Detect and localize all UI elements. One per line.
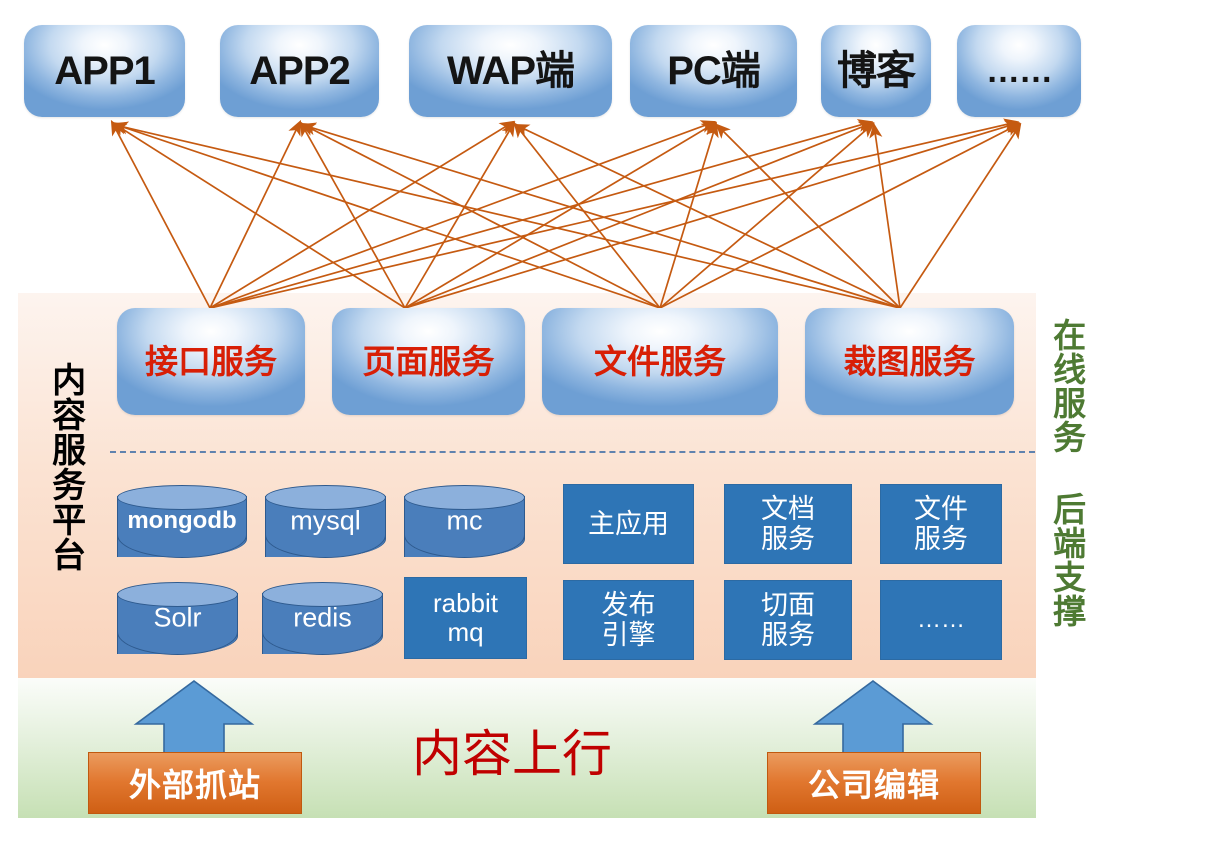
backend-box-file-service[interactable]: 文件 服务 (880, 484, 1002, 564)
datastore-cylinder-mongodb[interactable]: mongodb (117, 485, 247, 557)
backend-box-publish-engine[interactable]: 发布 引擎 (563, 580, 694, 660)
client-label: APP2 (249, 51, 350, 91)
upstream-source-company-editor[interactable]: 公司编辑 (767, 752, 981, 814)
layer-divider (110, 451, 1035, 453)
upstream-source-label: 公司编辑 (808, 760, 940, 806)
service-label: 文件服务 (594, 345, 726, 378)
backend-label-line1: 文档 (761, 494, 815, 524)
client-label: …… (986, 54, 1052, 88)
backend-label-line1: 文件 (914, 494, 968, 524)
datastore-box-rabbitmq[interactable]: rabbit mq (404, 577, 527, 659)
side-label-online-service: 在线服务 (1050, 318, 1084, 468)
client-box-pc[interactable]: PC端 (630, 25, 797, 117)
client-box-wap[interactable]: WAP端 (409, 25, 612, 117)
backend-label-line1: 发布 (602, 590, 656, 620)
datastore-cylinder-solr[interactable]: Solr (117, 582, 238, 654)
datastore-cylinder-mc[interactable]: mc (404, 485, 525, 557)
backend-box-doc-service[interactable]: 文档 服务 (724, 484, 852, 564)
service-box-file[interactable]: 文件服务 (542, 308, 778, 415)
upstream-source-label: 外部抓站 (129, 760, 261, 806)
client-box-more[interactable]: …… (957, 25, 1081, 117)
datastore-cylinder-mysql[interactable]: mysql (265, 485, 386, 557)
client-label: WAP端 (447, 51, 574, 91)
client-label: PC端 (667, 51, 760, 91)
backend-label-line2: 服务 (914, 524, 968, 554)
datastore-label: redis (262, 605, 383, 632)
backend-label-line1: …… (917, 607, 965, 634)
datastore-label-line1: rabbit (433, 589, 498, 618)
datastore-label: mysql (265, 508, 386, 535)
backend-label-line2: 引擎 (602, 620, 656, 650)
client-box-blog[interactable]: 博客 (821, 25, 931, 117)
architecture-diagram: APP1 APP2 WAP端 PC端 博客 …… 接口服务 页面服务 文件服务 … (0, 0, 1232, 845)
backend-label-line1: 主应用 (588, 509, 669, 539)
client-box-app1[interactable]: APP1 (24, 25, 185, 117)
backend-label-line2: 服务 (761, 524, 815, 554)
service-box-page[interactable]: 页面服务 (332, 308, 525, 415)
service-box-crop[interactable]: 裁图服务 (805, 308, 1014, 415)
service-label: 页面服务 (363, 345, 495, 378)
backend-box-main-app[interactable]: 主应用 (563, 484, 694, 564)
service-box-interface[interactable]: 接口服务 (117, 308, 305, 415)
datastore-label: mc (404, 508, 525, 535)
datastore-label-line2: mq (447, 618, 483, 647)
client-label: APP1 (54, 51, 155, 91)
side-label-platform: 内容服务平台 (48, 362, 83, 652)
service-label: 接口服务 (145, 345, 277, 378)
client-box-app2[interactable]: APP2 (220, 25, 379, 117)
backend-label-line1: 切面 (761, 590, 815, 620)
content-upstream-label: 内容上行 (412, 729, 612, 779)
service-label: 裁图服务 (844, 345, 976, 378)
backend-box-more[interactable]: …… (880, 580, 1002, 660)
datastore-cylinder-redis[interactable]: redis (262, 582, 383, 654)
client-label: 博客 (837, 51, 915, 91)
upstream-source-external-crawl[interactable]: 外部抓站 (88, 752, 302, 814)
datastore-label: mongodb (117, 509, 247, 533)
backend-label-line2: 服务 (761, 620, 815, 650)
side-label-backend-support: 后端支撑 (1050, 492, 1084, 642)
backend-box-aspect-service[interactable]: 切面 服务 (724, 580, 852, 660)
datastore-label: Solr (117, 605, 238, 632)
